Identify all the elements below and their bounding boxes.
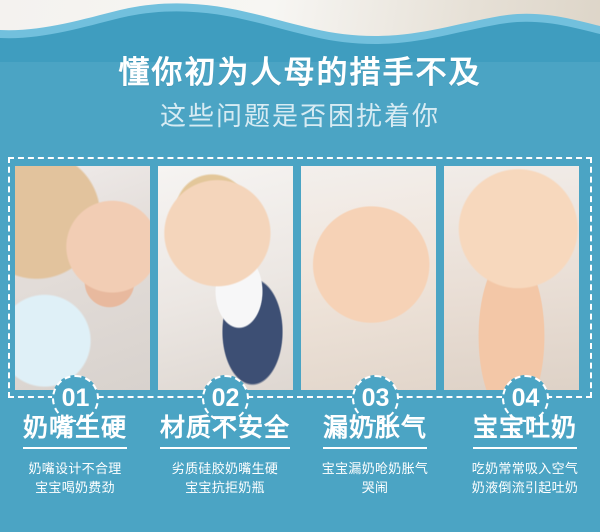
- page-title: 懂你初为人母的措手不及: [0, 54, 600, 92]
- caption-desc-03-line1: 宝宝漏奶呛奶胀气: [300, 459, 450, 478]
- caption-item-01: 奶嘴生硬 奶嘴设计不合理 宝宝喝奶费劲: [0, 412, 150, 532]
- caption-desc-04-line1: 吃奶常常吸入空气: [450, 459, 600, 478]
- caption-desc-03-line2: 哭闹: [300, 478, 450, 497]
- photo-cell-02[interactable]: [158, 166, 293, 390]
- caption-desc-02-line1: 劣质硅胶奶嘴生硬: [150, 459, 300, 478]
- wave-shape-icon: [0, 0, 600, 62]
- photo-strip: [15, 166, 585, 390]
- caption-desc-01-line2: 宝宝喝奶费劲: [0, 478, 150, 497]
- caption-headline-01: 奶嘴生硬: [23, 412, 127, 449]
- photo-cell-04[interactable]: [444, 166, 579, 390]
- caption-item-03: 漏奶胀气 宝宝漏奶呛奶胀气 哭闹: [300, 412, 450, 532]
- wave-header-decoration: [0, 0, 600, 62]
- caption-row: 奶嘴生硬 奶嘴设计不合理 宝宝喝奶费劲 材质不安全 劣质硅胶奶嘴生硬 宝宝抗拒奶…: [0, 412, 600, 532]
- caption-desc-01-line1: 奶嘴设计不合理: [0, 459, 150, 478]
- crying-baby-face-photo: [301, 166, 436, 390]
- photo-cell-01[interactable]: [15, 166, 150, 390]
- crying-baby-with-bottle-photo: [15, 166, 150, 390]
- caption-headline-03: 漏奶胀气: [323, 412, 427, 449]
- baby-drinking-bottle-photo: [158, 166, 293, 390]
- caption-desc-02-line2: 宝宝抗拒奶瓶: [150, 478, 300, 497]
- caption-item-04: 宝宝吐奶 吃奶常常吸入空气 奶液倒流引起吐奶: [450, 412, 600, 532]
- baby-spitting-milk-photo: [444, 166, 579, 390]
- promo-poster: 懂你初为人母的措手不及 这些问题是否困扰着你 01 02 03 04 奶嘴生硬 …: [0, 0, 600, 532]
- caption-headline-04: 宝宝吐奶: [473, 412, 577, 449]
- page-subtitle: 这些问题是否困扰着你: [0, 99, 600, 133]
- caption-headline-02: 材质不安全: [160, 412, 290, 449]
- caption-item-02: 材质不安全 劣质硅胶奶嘴生硬 宝宝抗拒奶瓶: [150, 412, 300, 532]
- header-text-block: 懂你初为人母的措手不及 这些问题是否困扰着你: [0, 54, 600, 133]
- caption-desc-04-line2: 奶液倒流引起吐奶: [450, 478, 600, 497]
- photo-cell-03[interactable]: [301, 166, 436, 390]
